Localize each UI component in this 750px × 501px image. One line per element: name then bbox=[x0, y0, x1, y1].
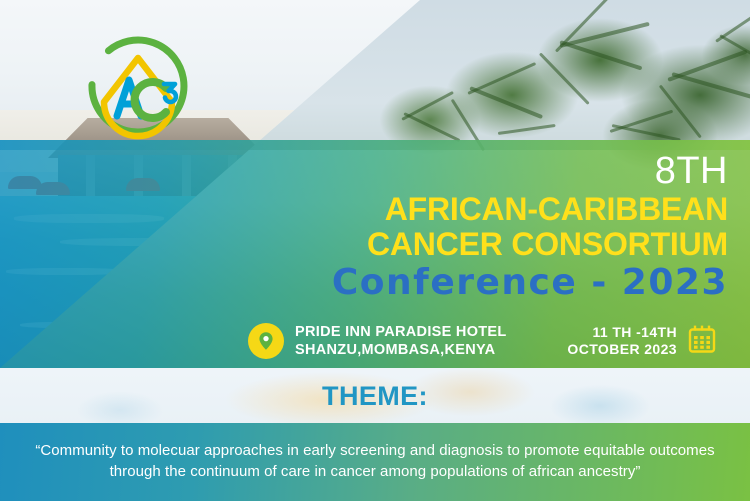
location-pin-icon bbox=[248, 323, 284, 359]
calendar-icon bbox=[686, 323, 718, 360]
venue-text: PRIDE INN PARADISE HOTEL SHANZU,MOMBASA,… bbox=[295, 323, 507, 359]
conference-name-line2: CANCER CONSORTIUM bbox=[168, 228, 728, 261]
theme-body: “Community to molecuar approaches in ear… bbox=[0, 423, 750, 501]
date-line1: 11 TH -14TH bbox=[567, 324, 677, 342]
theme-heading: THEME: bbox=[322, 381, 428, 412]
conference-subtitle: Conference - 2023 bbox=[168, 264, 728, 303]
date-text: 11 TH -14TH OCTOBER 2023 bbox=[567, 324, 677, 359]
venue-line1: PRIDE INN PARADISE HOTEL bbox=[295, 323, 507, 341]
edition-number: 8TH bbox=[168, 152, 728, 191]
title-block: 8TH AFRICAN-CARIBBEAN CANCER CONSORTIUM … bbox=[168, 152, 728, 303]
conference-poster: 8TH AFRICAN-CARIBBEAN CANCER CONSORTIUM … bbox=[0, 0, 750, 501]
ac3-logo bbox=[84, 32, 192, 140]
brand-gradient-edge bbox=[0, 140, 750, 150]
theme-statement: “Community to molecuar approaches in ear… bbox=[34, 441, 716, 482]
theme-header: THEME: bbox=[0, 370, 750, 423]
date-line2: OCTOBER 2023 bbox=[567, 341, 677, 359]
conference-name-line1: AFRICAN-CARIBBEAN bbox=[168, 193, 728, 226]
venue-date-row: PRIDE INN PARADISE HOTEL SHANZU,MOMBASA,… bbox=[248, 316, 718, 366]
date-group: 11 TH -14TH OCTOBER 2023 bbox=[567, 323, 718, 360]
venue-line2: SHANZU,MOMBASA,KENYA bbox=[295, 341, 507, 359]
